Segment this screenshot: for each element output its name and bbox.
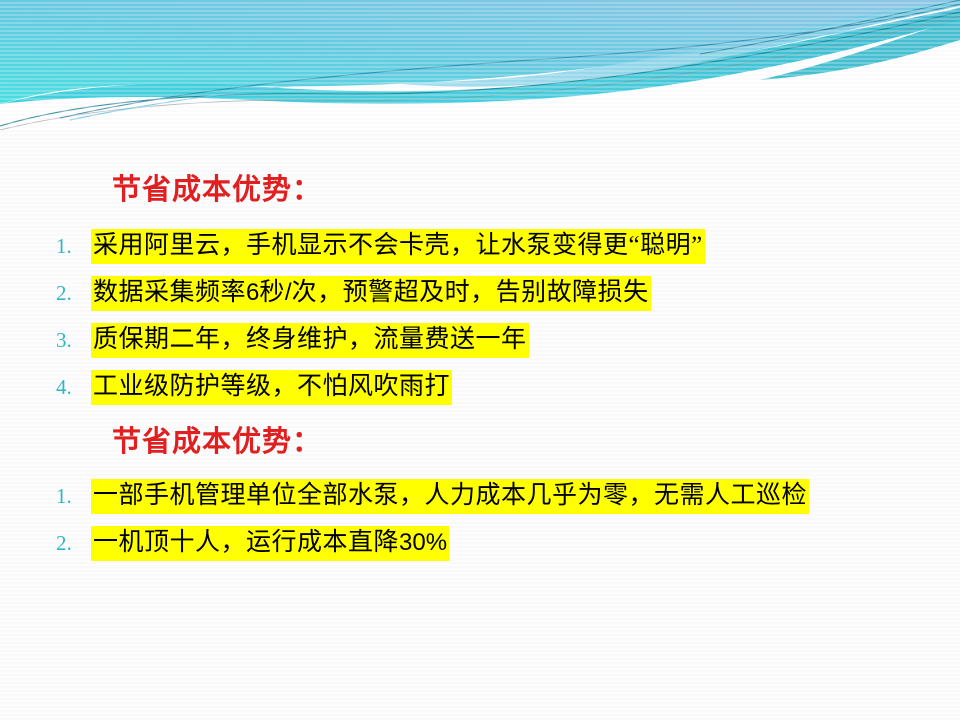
list-marker: 4. — [52, 372, 91, 402]
list-marker: 3. — [52, 325, 91, 355]
list-item[interactable]: 4. 工业级防护等级，不怕风吹雨打 — [52, 370, 932, 417]
text-run-pre: 数据采集频率 — [93, 279, 246, 306]
text-run-post: 次，预警超及时，告别故障损失 — [292, 279, 649, 306]
text-run-pre: 一机顶十人，运行成本直降 — [93, 529, 399, 556]
bullet-list-1: 1. 采用阿里云，手机显示不会卡壳，让水泵变得更“聪明” 2. 数据采集频率6秒… — [52, 229, 932, 417]
list-marker: 1. — [52, 481, 91, 511]
list-item[interactable]: 1. 采用阿里云，手机显示不会卡壳，让水泵变得更“聪明” — [52, 229, 932, 276]
slide-canvas: 节省成本优势： 1. 采用阿里云，手机显示不会卡壳，让水泵变得更“聪明” 2. … — [0, 0, 960, 720]
list-marker: 2. — [52, 528, 91, 558]
list-item-text: 一部手机管理单位全部水泵，人力成本几乎为零，无需人工巡检 — [91, 479, 809, 514]
text-run-mid: 秒 — [259, 279, 285, 306]
list-item-text: 一机顶十人，运行成本直降30% — [91, 526, 449, 561]
list-item-text: 采用阿里云，手机显示不会卡壳，让水泵变得更“聪明” — [91, 229, 705, 264]
text-run-number: 6 — [246, 279, 259, 306]
text-run-slash: / — [285, 279, 292, 306]
list-item[interactable]: 3. 质保期二年，终身维护，流量费送一年 — [52, 323, 932, 370]
list-marker: 2. — [52, 278, 91, 308]
bullet-list-2: 1. 一部手机管理单位全部水泵，人力成本几乎为零，无需人工巡检 2. 一机顶十人… — [52, 479, 932, 573]
list-item[interactable]: 1. 一部手机管理单位全部水泵，人力成本几乎为零，无需人工巡检 — [52, 479, 932, 526]
list-item[interactable]: 2. 一机顶十人，运行成本直降30% — [52, 526, 932, 573]
section-heading-2: 节省成本优势： — [112, 424, 322, 460]
list-marker: 1. — [52, 231, 91, 261]
list-item-text: 数据采集频率6秒/次，预警超及时，告别故障损失 — [91, 276, 651, 311]
text-run-percent: 30% — [399, 529, 447, 556]
section-heading-1: 节省成本优势： — [112, 172, 322, 208]
list-item-text: 工业级防护等级，不怕风吹雨打 — [91, 370, 452, 405]
list-item[interactable]: 2. 数据采集频率6秒/次，预警超及时，告别故障损失 — [52, 276, 932, 323]
slide-content: 节省成本优势： 1. 采用阿里云，手机显示不会卡壳，让水泵变得更“聪明” 2. … — [0, 0, 960, 720]
list-item-text: 质保期二年，终身维护，流量费送一年 — [91, 323, 529, 358]
